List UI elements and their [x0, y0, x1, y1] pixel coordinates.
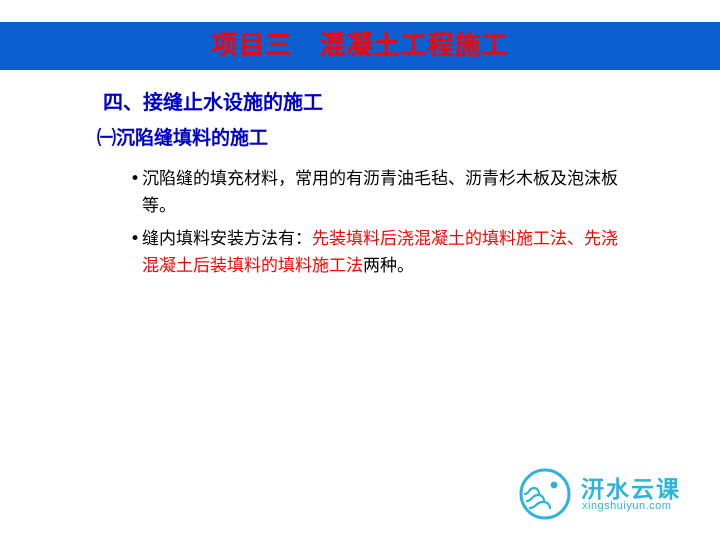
water-wave-circle-icon [519, 468, 571, 520]
slide: 项目三 混凝土工程施工 四、接缝止水设施的施工 ㈠沉陷缝填料的施工 • 沉陷缝的… [0, 0, 720, 540]
slide-title: 项目三 混凝土工程施工 [0, 22, 720, 70]
watermark-logo: 汧水云课 xingshuiyun.com [519, 466, 695, 524]
list-item: • 沉陷缝的填充材料，常用的有沥青油毛毡、沥青杉木板及泡沫板等。 [128, 166, 628, 220]
watermark-name: 汧水云课 [581, 470, 681, 504]
section-heading-1: 四、接缝止水设施的施工 [103, 86, 323, 115]
watermark-pinyin: xingshuiyun.com [582, 500, 671, 512]
bullet-marker: • [130, 166, 140, 193]
list-item: • 缝内填料安装方法有：先装填料后浇混凝土的填料施工法、先浇混凝土后装填料的填料… [128, 226, 628, 280]
list-item-text-part-2: 两种。 [363, 256, 414, 276]
section-heading-2: ㈠沉陷缝填料的施工 [97, 123, 268, 150]
list-item-text-part-1: 缝内填料安装方法有： [142, 229, 312, 249]
bullet-marker: • [130, 226, 140, 253]
list-item-text: 沉陷缝的填充材料，常用的有沥青油毛毡、沥青杉木板及泡沫板等。 [142, 169, 618, 216]
bullet-list: • 沉陷缝的填充材料，常用的有沥青油毛毡、沥青杉木板及泡沫板等。 • 缝内填料安… [128, 166, 628, 286]
